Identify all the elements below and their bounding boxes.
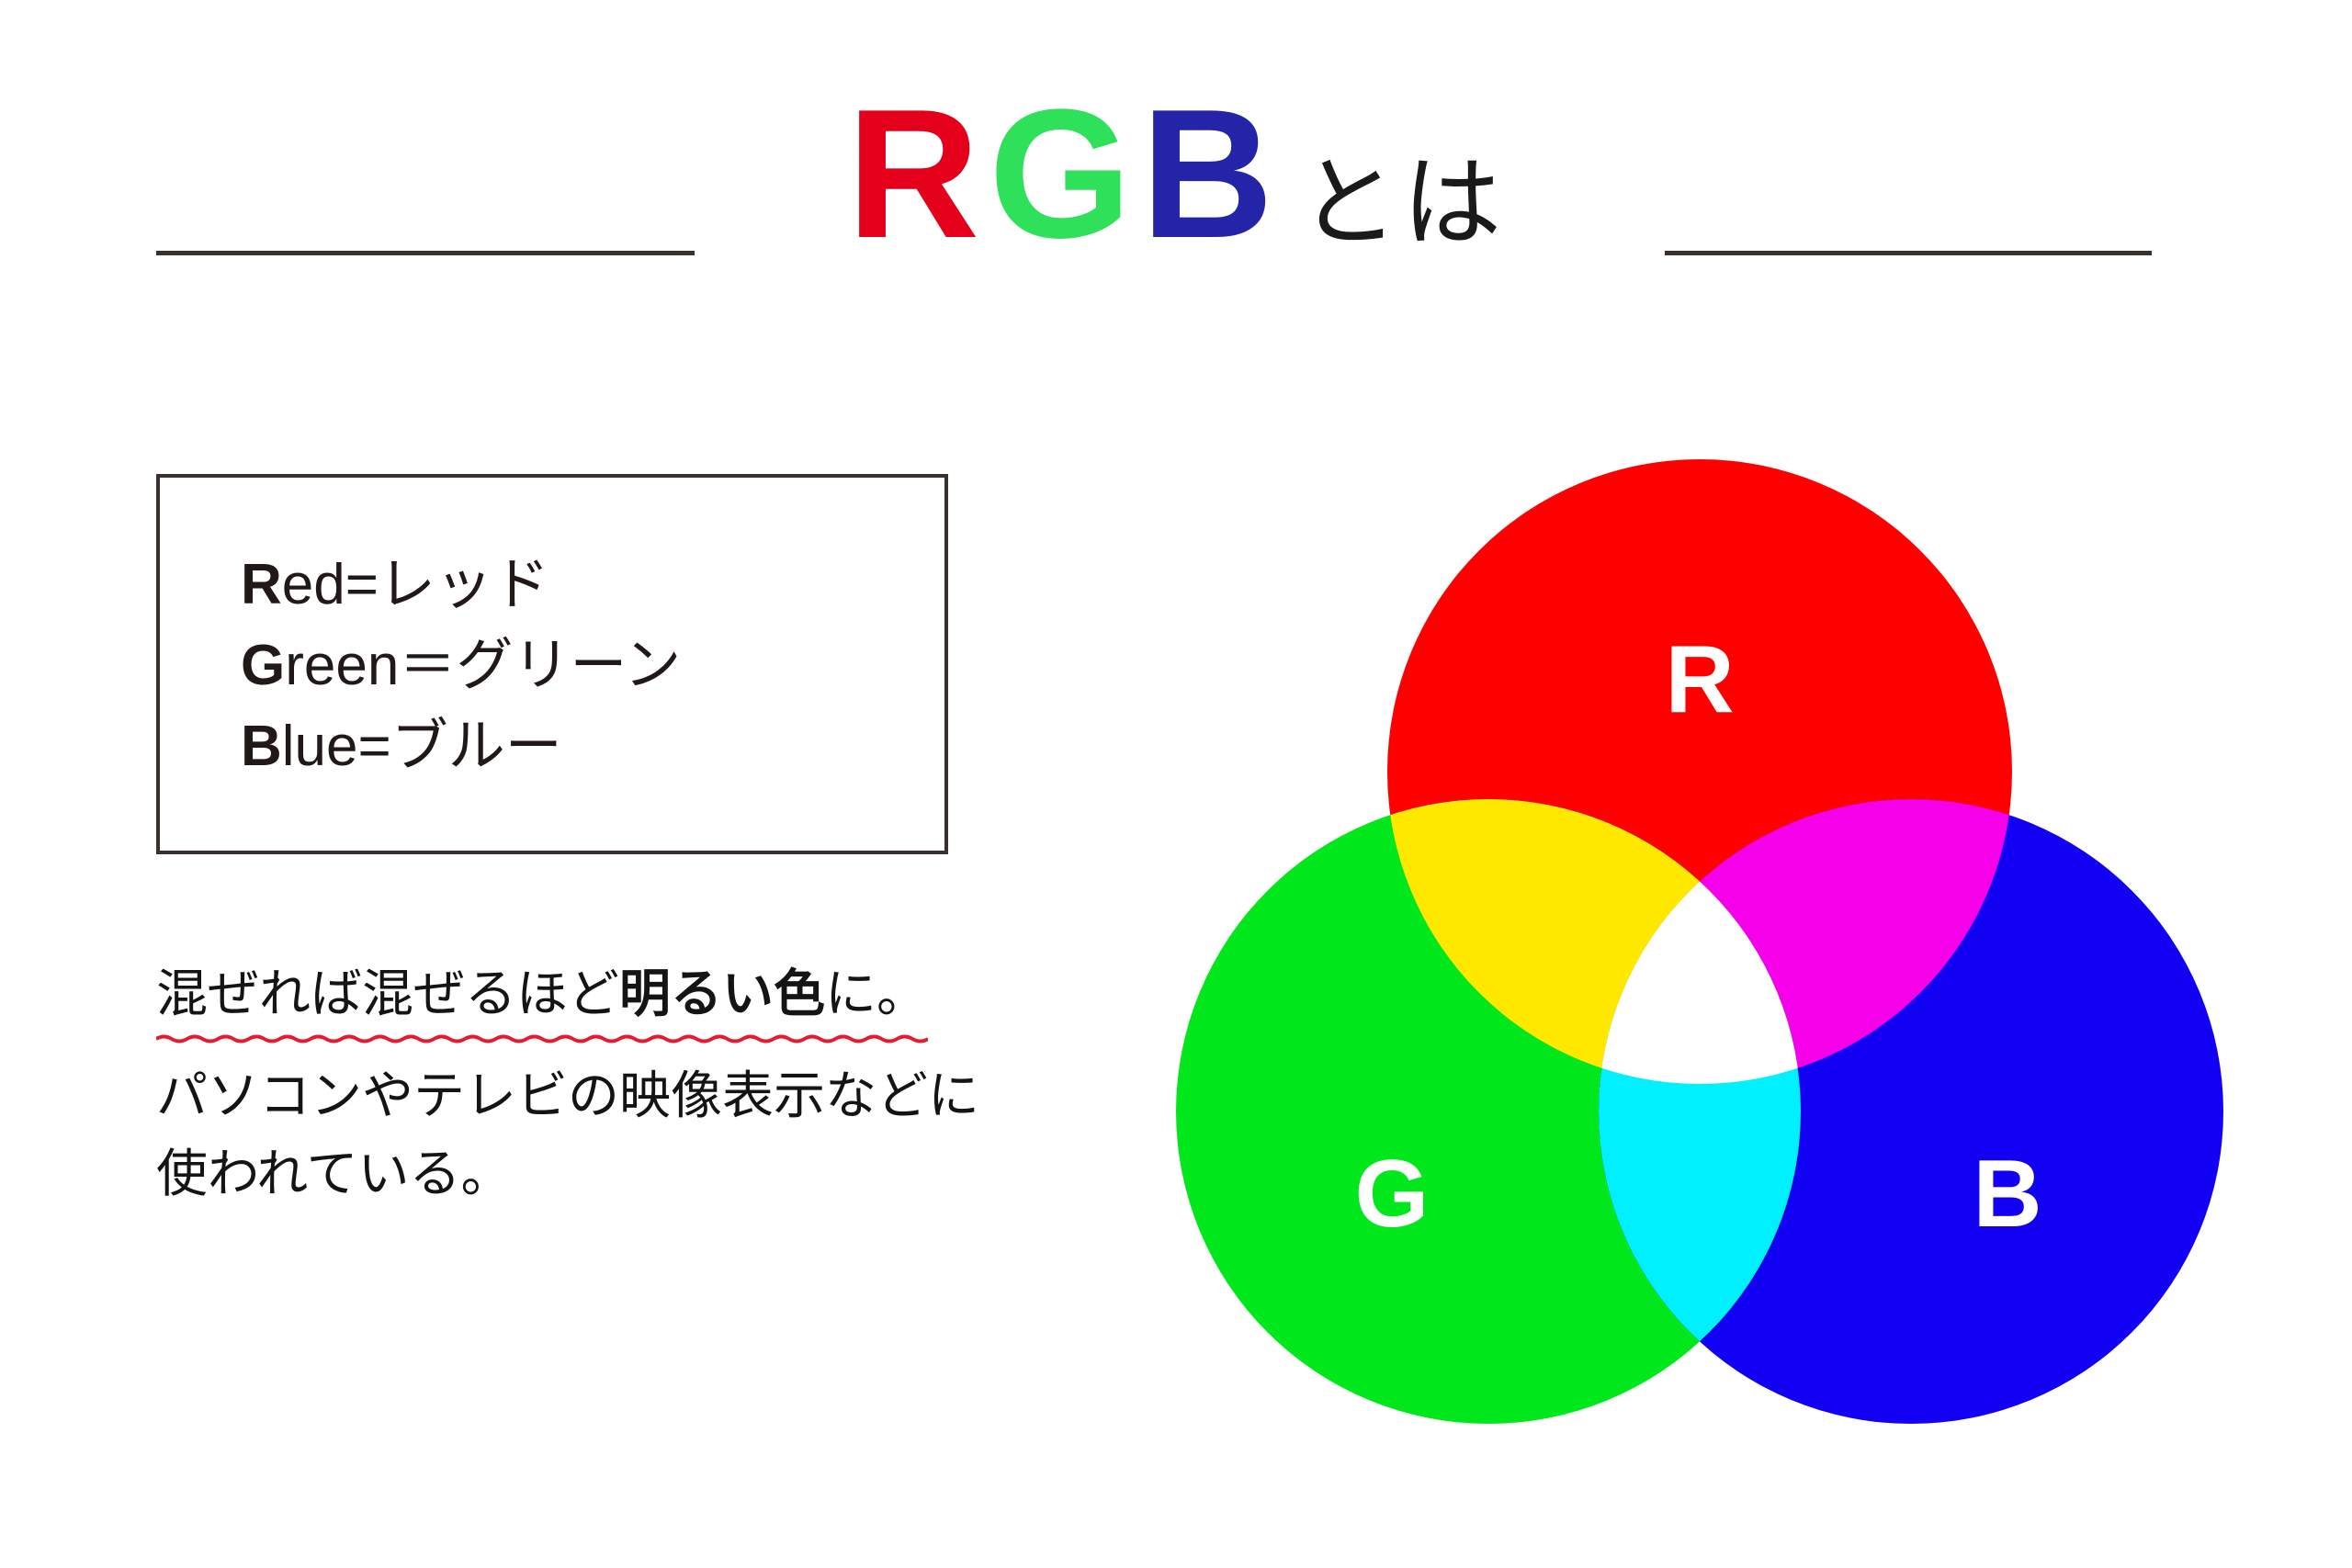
title-letter-r: R [847, 72, 989, 276]
definition-katakana-red: レッド [379, 550, 549, 617]
venn-label-blue: B [1973, 1141, 2041, 1247]
definition-row-red: Red=レッド [241, 544, 681, 625]
venn-label-green: G [1355, 1141, 1430, 1247]
body-line-1-prefix: 混ぜれば混ぜるほど [156, 964, 619, 1024]
definition-initial-green: G [241, 634, 285, 697]
definition-rest-green: reen [285, 634, 399, 697]
definition-rest-red: ed [282, 553, 345, 616]
definition-equals-red: = [345, 553, 379, 616]
definition-katakana-green: グリーン [456, 631, 681, 698]
definition-equals-green: ＝ [399, 634, 456, 697]
definition-row-green: Green＝グリーン [241, 625, 681, 705]
body-line-1-emphasis: 明るい色 [619, 964, 825, 1024]
definition-initial-red: R [241, 553, 282, 616]
body-line-1: 混ぜれば混ぜるほど明るい色に。 [156, 955, 928, 1033]
definition-rest-blue: lue [282, 715, 358, 778]
body-line-1-suffix: に。 [825, 964, 928, 1024]
definition-initial-blue: B [241, 715, 282, 778]
venn-svg: R G B [1130, 404, 2278, 1506]
definition-list: Red=レッド Green＝グリーン Blue=ブルー [241, 544, 681, 786]
body-copy: 混ぜれば混ぜるほど明るい色に。 パソコンやテレビの映像表示などに 使われている。 [156, 955, 1130, 1213]
definition-katakana-blue: ブルー [391, 712, 562, 779]
venn-label-red: R [1665, 626, 1734, 733]
wavy-underline [156, 1032, 928, 1046]
definition-row-blue: Blue=ブルー [241, 705, 681, 786]
page-title: RGBとは [0, 83, 2352, 266]
title-block: RGBとは [0, 0, 2352, 386]
definition-box: Red=レッド Green＝グリーン Blue=ブルー [156, 474, 948, 854]
title-suffix: とは [1299, 146, 1505, 261]
title-letter-b: B [1141, 72, 1283, 276]
title-letter-g: G [989, 72, 1141, 276]
definition-equals-blue: = [358, 715, 391, 778]
rgb-venn-diagram: R G B [1130, 404, 2278, 1506]
body-line-2: パソコンやテレビの映像表示などに [156, 1057, 1130, 1135]
body-line-3: 使われている。 [156, 1135, 1130, 1213]
